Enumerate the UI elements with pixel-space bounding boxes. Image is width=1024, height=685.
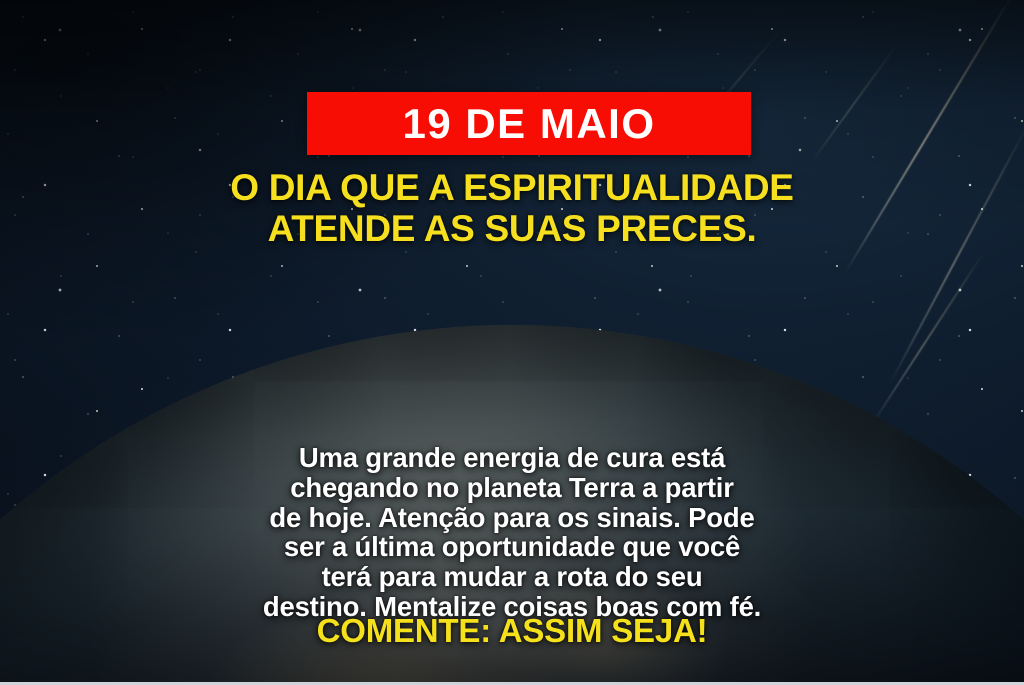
body-line-4: ser a última oportunidade que você (0, 532, 1024, 562)
body-line-5: terá para mudar a rota do seu (0, 562, 1024, 592)
headline-line-2: ATENDE AS SUAS PRECES. (0, 208, 1024, 249)
body-line-3: de hoje. Atenção para os sinais. Pode (0, 503, 1024, 533)
body-line-2: chegando no planeta Terra a partir (0, 473, 1024, 503)
poster-image: 19 DE MAIO O DIA QUE A ESPIRITUALIDADE A… (0, 0, 1024, 685)
headline-line-1: O DIA QUE A ESPIRITUALIDADE (0, 167, 1024, 208)
body-text: Uma grande energia de cura está chegando… (0, 443, 1024, 622)
date-banner-label: 19 DE MAIO (402, 103, 655, 145)
date-banner: 19 DE MAIO (307, 92, 751, 155)
call-to-action-text: COMENTE: ASSIM SEJA! (0, 614, 1024, 647)
headline: O DIA QUE A ESPIRITUALIDADE ATENDE AS SU… (0, 167, 1024, 250)
body-line-1: Uma grande energia de cura está (0, 443, 1024, 473)
